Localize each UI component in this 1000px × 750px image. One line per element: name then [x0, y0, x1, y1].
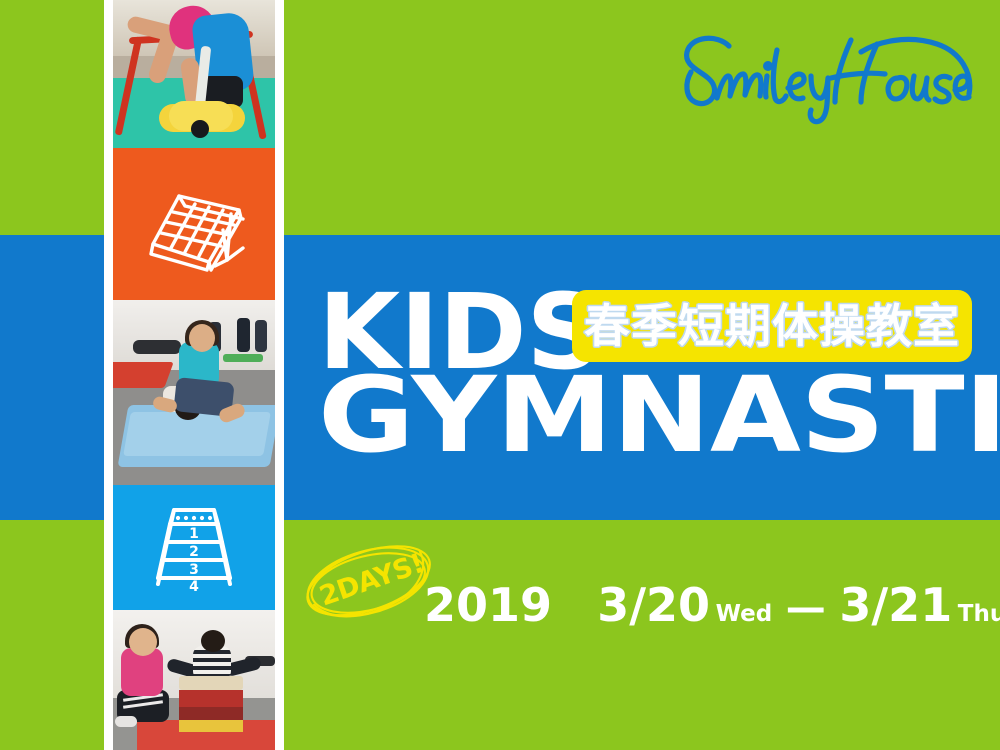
strip-gutter-left: [104, 0, 113, 750]
photo-coach-child-mat: [113, 300, 275, 485]
event-start-day: 3/20: [597, 578, 710, 632]
headline-gymnastics: GYMNASTICS: [318, 371, 1000, 460]
smiley-house-logo: [655, 22, 975, 127]
event-end-day: 3/21: [839, 578, 952, 632]
vault-box-icon: 1 2 3 4: [144, 498, 244, 598]
strip-gutter-right: [275, 0, 284, 750]
event-date-line: 2019 3/20 Wed — 3/21 Thu: [424, 578, 1000, 632]
vault-tier-label-3: 3: [189, 562, 199, 578]
japanese-course-badge: 春季短期体操教室: [572, 290, 972, 362]
photo-headstand-bolster: [113, 0, 275, 148]
smiley-house-logo-mark: [655, 22, 975, 127]
vault-tier-label-4: 4: [189, 579, 199, 595]
event-end-weekday: Thu: [958, 601, 1000, 627]
icon-panel-vault-box: 1 2 3 4: [113, 485, 275, 610]
springboard-icon: [135, 170, 253, 278]
event-year: 2019: [424, 578, 552, 632]
japanese-course-badge-text: 春季短期体操教室: [584, 303, 960, 349]
event-start-weekday: Wed: [716, 601, 773, 627]
photo-vault-over-box: [113, 610, 275, 750]
event-date-separator: —: [778, 585, 834, 631]
poster-canvas: 1 2 3 4: [0, 0, 1000, 750]
photo-strip: 1 2 3 4: [113, 0, 275, 750]
two-days-badge: 2DAYS!: [300, 536, 436, 628]
vault-tier-label-2: 2: [189, 544, 199, 560]
vault-tier-label-1: 1: [189, 526, 199, 542]
icon-panel-springboard: [113, 148, 275, 300]
